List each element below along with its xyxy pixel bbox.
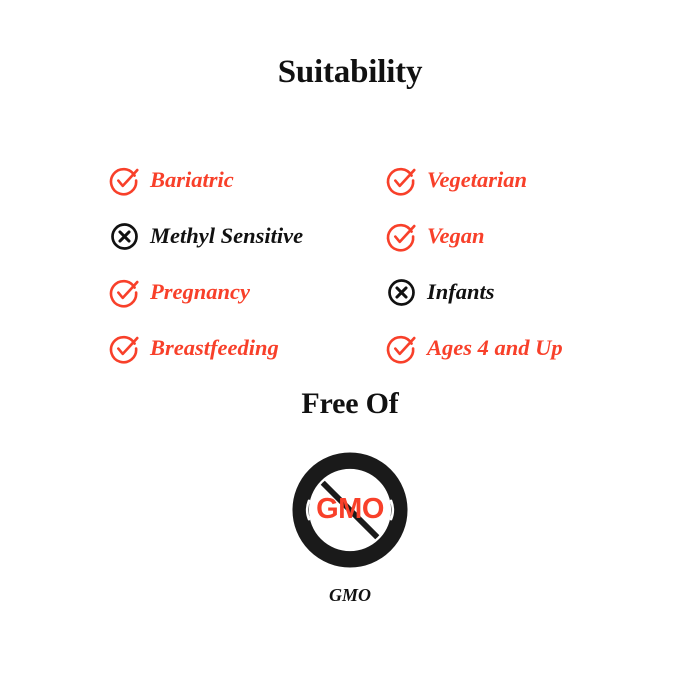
suitability-item-label: Ages 4 and Up xyxy=(427,335,563,361)
suitability-item-vegan: Vegan xyxy=(387,216,630,256)
check-circle-icon xyxy=(110,334,139,363)
free-of-heading: Free Of xyxy=(0,385,700,423)
free-of-list: GMO GMO GMO GMO xyxy=(0,452,700,606)
check-circle-icon xyxy=(387,222,416,251)
suitability-item-label: Pregnancy xyxy=(150,279,250,305)
x-circle-icon xyxy=(110,222,139,251)
suitability-item-label: Methyl Sensitive xyxy=(150,223,303,249)
free-of-item-label: GMO xyxy=(329,584,371,606)
suitability-item-methyl-sensitive: Methyl Sensitive xyxy=(110,216,387,256)
x-circle-icon xyxy=(387,278,416,307)
gmo-badge-center-text: GMO xyxy=(316,493,384,525)
suitability-item-ages-4-and-up: Ages 4 and Up xyxy=(387,328,630,368)
suitability-item-vegetarian: Vegetarian xyxy=(387,160,630,200)
check-circle-icon xyxy=(110,166,139,195)
suitability-item-label: Vegetarian xyxy=(427,167,527,193)
check-circle-icon xyxy=(110,278,139,307)
suitability-item-breastfeeding: Breastfeeding xyxy=(110,328,387,368)
suitability-item-label: Vegan xyxy=(427,223,485,249)
no-gmo-badge-icon: GMO GMO GMO xyxy=(292,452,408,568)
suitability-item-label: Bariatric xyxy=(150,167,234,193)
suitability-item-bariatric: Bariatric xyxy=(110,160,387,200)
free-of-item-gmo: GMO GMO GMO GMO xyxy=(292,452,408,606)
gmo-badge-bottom-text: GMO xyxy=(331,527,368,545)
check-circle-icon xyxy=(387,334,416,363)
suitability-item-label: Breastfeeding xyxy=(150,335,279,361)
suitability-free-of-panel: Suitability Bariatric Vegetarian xyxy=(0,0,700,700)
suitability-item-pregnancy: Pregnancy xyxy=(110,272,387,312)
suitability-item-label: Infants xyxy=(427,279,495,305)
suitability-item-infants: Infants xyxy=(387,272,630,312)
suitability-list: Bariatric Vegetarian Methyl Sensitive xyxy=(110,152,630,376)
suitability-heading: Suitability xyxy=(0,52,700,92)
check-circle-icon xyxy=(387,166,416,195)
